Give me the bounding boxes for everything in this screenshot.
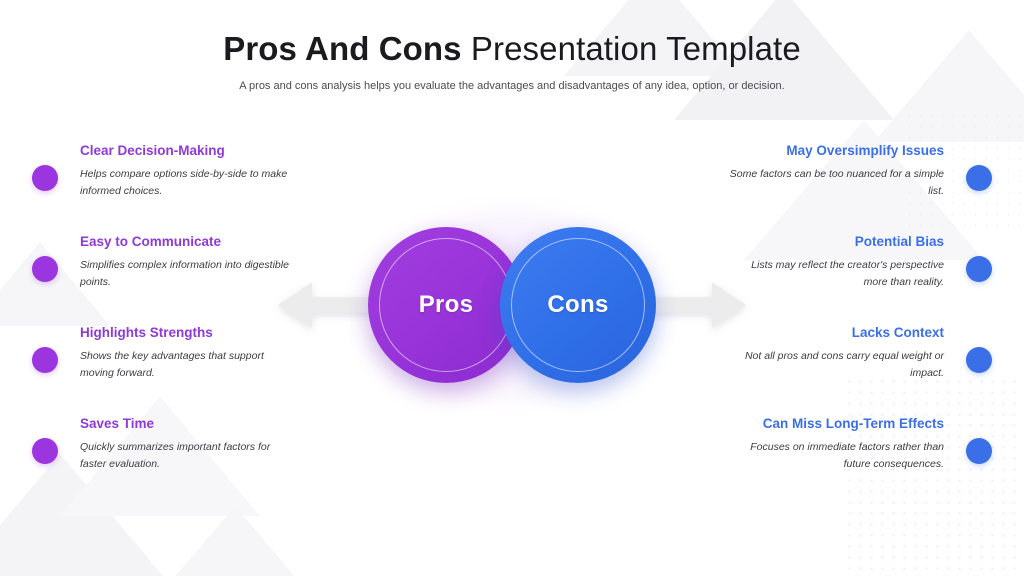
list-item[interactable]: Highlights Strengths Shows the key advan… xyxy=(32,325,332,416)
page-title: Pros And Cons Presentation Template xyxy=(0,30,1024,69)
background-triangle xyxy=(150,506,320,576)
list-item-description: Simplifies complex information into dige… xyxy=(80,257,298,291)
list-item-title: Highlights Strengths xyxy=(80,325,332,341)
bullet-dot-icon xyxy=(32,347,58,373)
venn-diagram: Pros Cons xyxy=(282,205,742,405)
list-item-description: Helps compare options side-by-side to ma… xyxy=(80,166,298,200)
list-item[interactable]: Lacks Context Not all pros and cons carr… xyxy=(692,325,992,416)
list-item-text: Easy to Communicate Simplifies complex i… xyxy=(58,234,332,291)
list-item-title: Lacks Context xyxy=(692,325,944,341)
page-title-emphasis: Pros And Cons xyxy=(223,30,461,67)
slide-header: Pros And Cons Presentation Template A pr… xyxy=(0,30,1024,92)
bullet-dot-icon xyxy=(32,256,58,282)
bullet-dot-icon xyxy=(32,165,58,191)
page-title-rest: Presentation Template xyxy=(462,30,801,67)
list-item[interactable]: Clear Decision-Making Helps compare opti… xyxy=(32,143,332,234)
list-item[interactable]: Saves Time Quickly summarizes important … xyxy=(32,416,332,507)
list-item-title: Clear Decision-Making xyxy=(80,143,332,159)
cons-circle[interactable]: Cons xyxy=(500,227,656,383)
list-item[interactable]: Easy to Communicate Simplifies complex i… xyxy=(32,234,332,325)
bullet-dot-icon xyxy=(966,256,992,282)
cons-column: May Oversimplify Issues Some factors can… xyxy=(692,143,992,507)
list-item-title: Saves Time xyxy=(80,416,332,432)
list-item[interactable]: Potential Bias Lists may reflect the cre… xyxy=(692,234,992,325)
list-item[interactable]: May Oversimplify Issues Some factors can… xyxy=(692,143,992,234)
list-item-text: Saves Time Quickly summarizes important … xyxy=(58,416,332,473)
list-item-description: Shows the key advantages that support mo… xyxy=(80,348,298,382)
list-item-title: Potential Bias xyxy=(692,234,944,250)
bullet-dot-icon xyxy=(966,165,992,191)
pros-circle-label: Pros xyxy=(419,291,474,319)
pros-column: Clear Decision-Making Helps compare opti… xyxy=(32,143,332,507)
list-item-description: Lists may reflect the creator's perspect… xyxy=(726,257,944,291)
list-item-description: Some factors can be too nuanced for a si… xyxy=(726,166,944,200)
list-item[interactable]: Can Miss Long-Term Effects Focuses on im… xyxy=(692,416,992,507)
bullet-dot-icon xyxy=(32,438,58,464)
list-item-title: Easy to Communicate xyxy=(80,234,332,250)
page-subtitle: A pros and cons analysis helps you evalu… xyxy=(0,80,1024,92)
bullet-dot-icon xyxy=(966,438,992,464)
list-item-title: May Oversimplify Issues xyxy=(692,143,944,159)
list-item-text: Lacks Context Not all pros and cons carr… xyxy=(692,325,966,382)
list-item-text: May Oversimplify Issues Some factors can… xyxy=(692,143,966,200)
cons-circle-label: Cons xyxy=(547,291,608,319)
list-item-text: Highlights Strengths Shows the key advan… xyxy=(58,325,332,382)
bullet-dot-icon xyxy=(966,347,992,373)
list-item-title: Can Miss Long-Term Effects xyxy=(692,416,944,432)
list-item-description: Not all pros and cons carry equal weight… xyxy=(726,348,944,382)
list-item-text: Potential Bias Lists may reflect the cre… xyxy=(692,234,966,291)
list-item-text: Clear Decision-Making Helps compare opti… xyxy=(58,143,332,200)
list-item-text: Can Miss Long-Term Effects Focuses on im… xyxy=(692,416,966,473)
list-item-description: Quickly summarizes important factors for… xyxy=(80,439,298,473)
list-item-description: Focuses on immediate factors rather than… xyxy=(726,439,944,473)
